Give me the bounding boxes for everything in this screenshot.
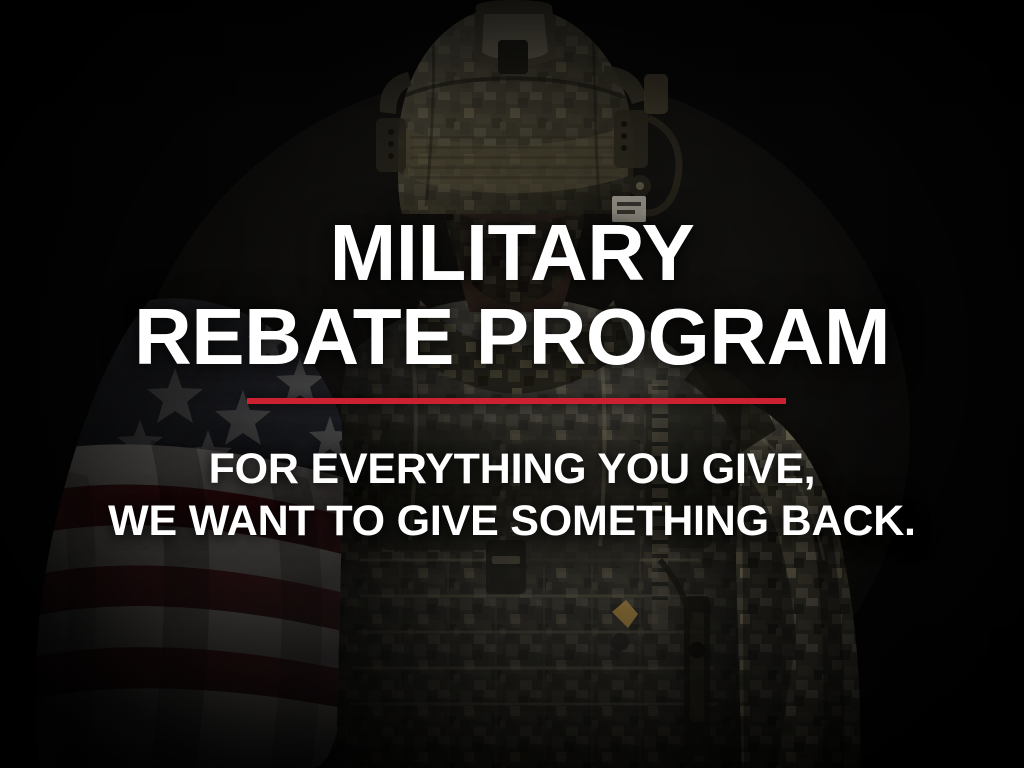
hero-artwork [0, 0, 1024, 768]
military-rebate-banner: MILITARY REBATE PROGRAM FOR EVERYTHING Y… [0, 0, 1024, 768]
